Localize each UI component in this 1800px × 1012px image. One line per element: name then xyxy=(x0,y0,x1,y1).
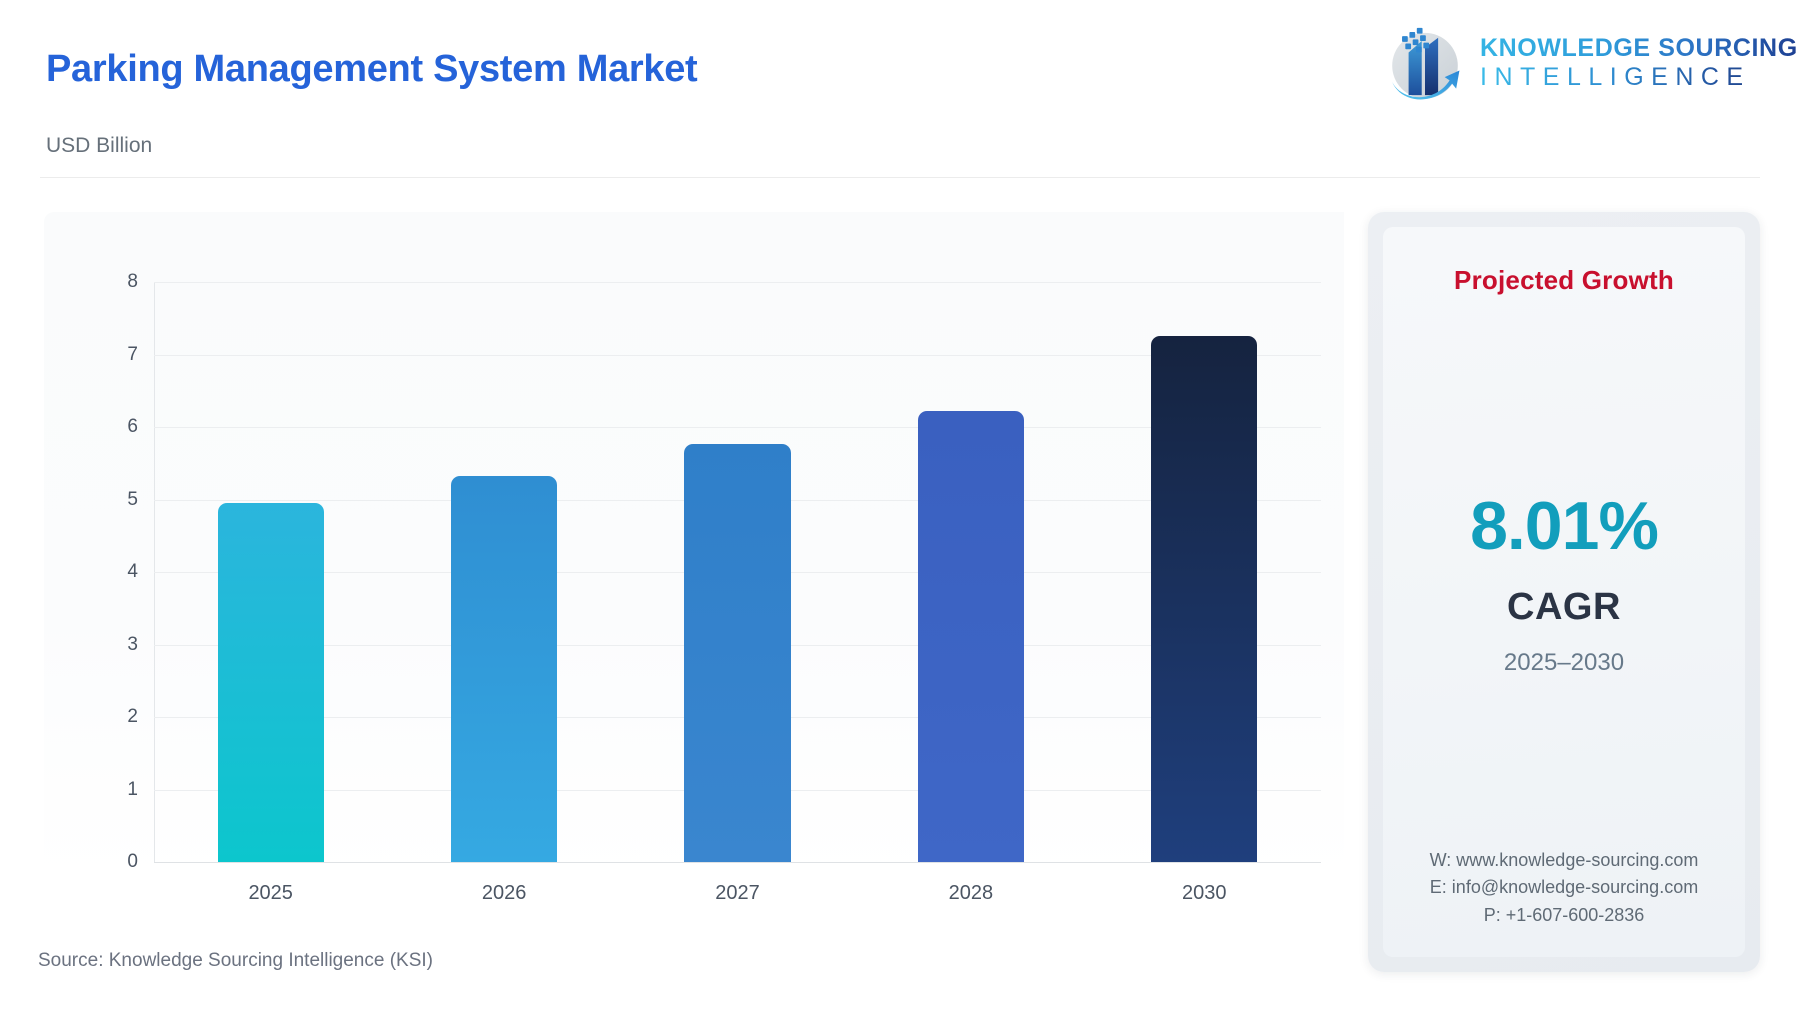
logo-line-knowledge-sourcing: KNOWLEDGE SOURCING xyxy=(1480,35,1798,62)
ksi-globe-bars-arrow-icon xyxy=(1384,23,1466,105)
y-axis-tick-label: 6 xyxy=(127,416,138,438)
bar-column[interactable] xyxy=(451,282,557,862)
bar-series: 20252026202720282030 xyxy=(154,282,1321,862)
logo-line-intelligence: INTELLIGENCE xyxy=(1480,62,1798,93)
bar-2025[interactable] xyxy=(218,503,324,862)
y-axis-tick-label: 7 xyxy=(127,344,138,366)
x-axis-tick-label: 2027 xyxy=(715,882,760,905)
page-header: Parking Management System Market USD Bil… xyxy=(0,0,1800,178)
x-axis-tick-label: 2026 xyxy=(482,882,527,905)
bar-2026[interactable] xyxy=(451,476,557,862)
projected-growth-inner: Projected Growth 8.01% CAGR 2025–2030 W:… xyxy=(1383,227,1745,957)
bar-2030[interactable] xyxy=(1151,336,1257,862)
x-axis-tick-label: 2030 xyxy=(1182,882,1227,905)
y-axis-tick-label: 1 xyxy=(127,779,138,801)
company-logo: KNOWLEDGE SOURCING INTELLIGENCE xyxy=(1384,22,1764,106)
x-axis-tick-label: 2025 xyxy=(248,882,293,905)
y-axis-tick-label: 0 xyxy=(127,851,138,873)
y-axis-tick-label: 3 xyxy=(127,634,138,656)
bar-2028[interactable] xyxy=(918,411,1024,862)
x-axis-tick-label: 2028 xyxy=(949,882,994,905)
header-divider xyxy=(40,177,1760,178)
bar-column[interactable] xyxy=(918,282,1024,862)
bar-column[interactable] xyxy=(218,282,324,862)
contact-block: W: www.knowledge-sourcing.com E: info@kn… xyxy=(1383,847,1745,929)
chart-page: Parking Management System Market USD Bil… xyxy=(0,0,1800,1012)
contact-website[interactable]: W: www.knowledge-sourcing.com xyxy=(1383,847,1745,874)
y-axis-tick-label: 4 xyxy=(127,561,138,583)
bar-2027[interactable] xyxy=(684,444,790,862)
cagr-label: CAGR xyxy=(1507,586,1621,629)
contact-phone[interactable]: P: +1-607-600-2836 xyxy=(1383,902,1745,929)
cagr-period: 2025–2030 xyxy=(1504,649,1624,677)
projected-growth-card: Projected Growth 8.01% CAGR 2025–2030 W:… xyxy=(1368,212,1760,972)
page-title: Parking Management System Market xyxy=(46,48,697,91)
chart-panel: 012345678 20252026202720282030 xyxy=(44,212,1344,880)
y-axis-tick-label: 5 xyxy=(127,489,138,511)
y-axis-tick-label: 2 xyxy=(127,706,138,728)
y-axis-tick-label: 8 xyxy=(127,271,138,293)
logo-wordmark: KNOWLEDGE SOURCING INTELLIGENCE xyxy=(1480,35,1798,93)
page-subtitle: USD Billion xyxy=(46,134,152,158)
contact-email[interactable]: E: info@knowledge-sourcing.com xyxy=(1383,874,1745,901)
projected-growth-heading: Projected Growth xyxy=(1454,265,1674,296)
bar-column[interactable] xyxy=(684,282,790,862)
bar-column[interactable] xyxy=(1151,282,1257,862)
source-note: Source: Knowledge Sourcing Intelligence … xyxy=(38,950,433,972)
plot-area: 012345678 20252026202720282030 xyxy=(154,282,1321,862)
gridline xyxy=(154,862,1321,863)
cagr-value: 8.01% xyxy=(1470,492,1658,560)
